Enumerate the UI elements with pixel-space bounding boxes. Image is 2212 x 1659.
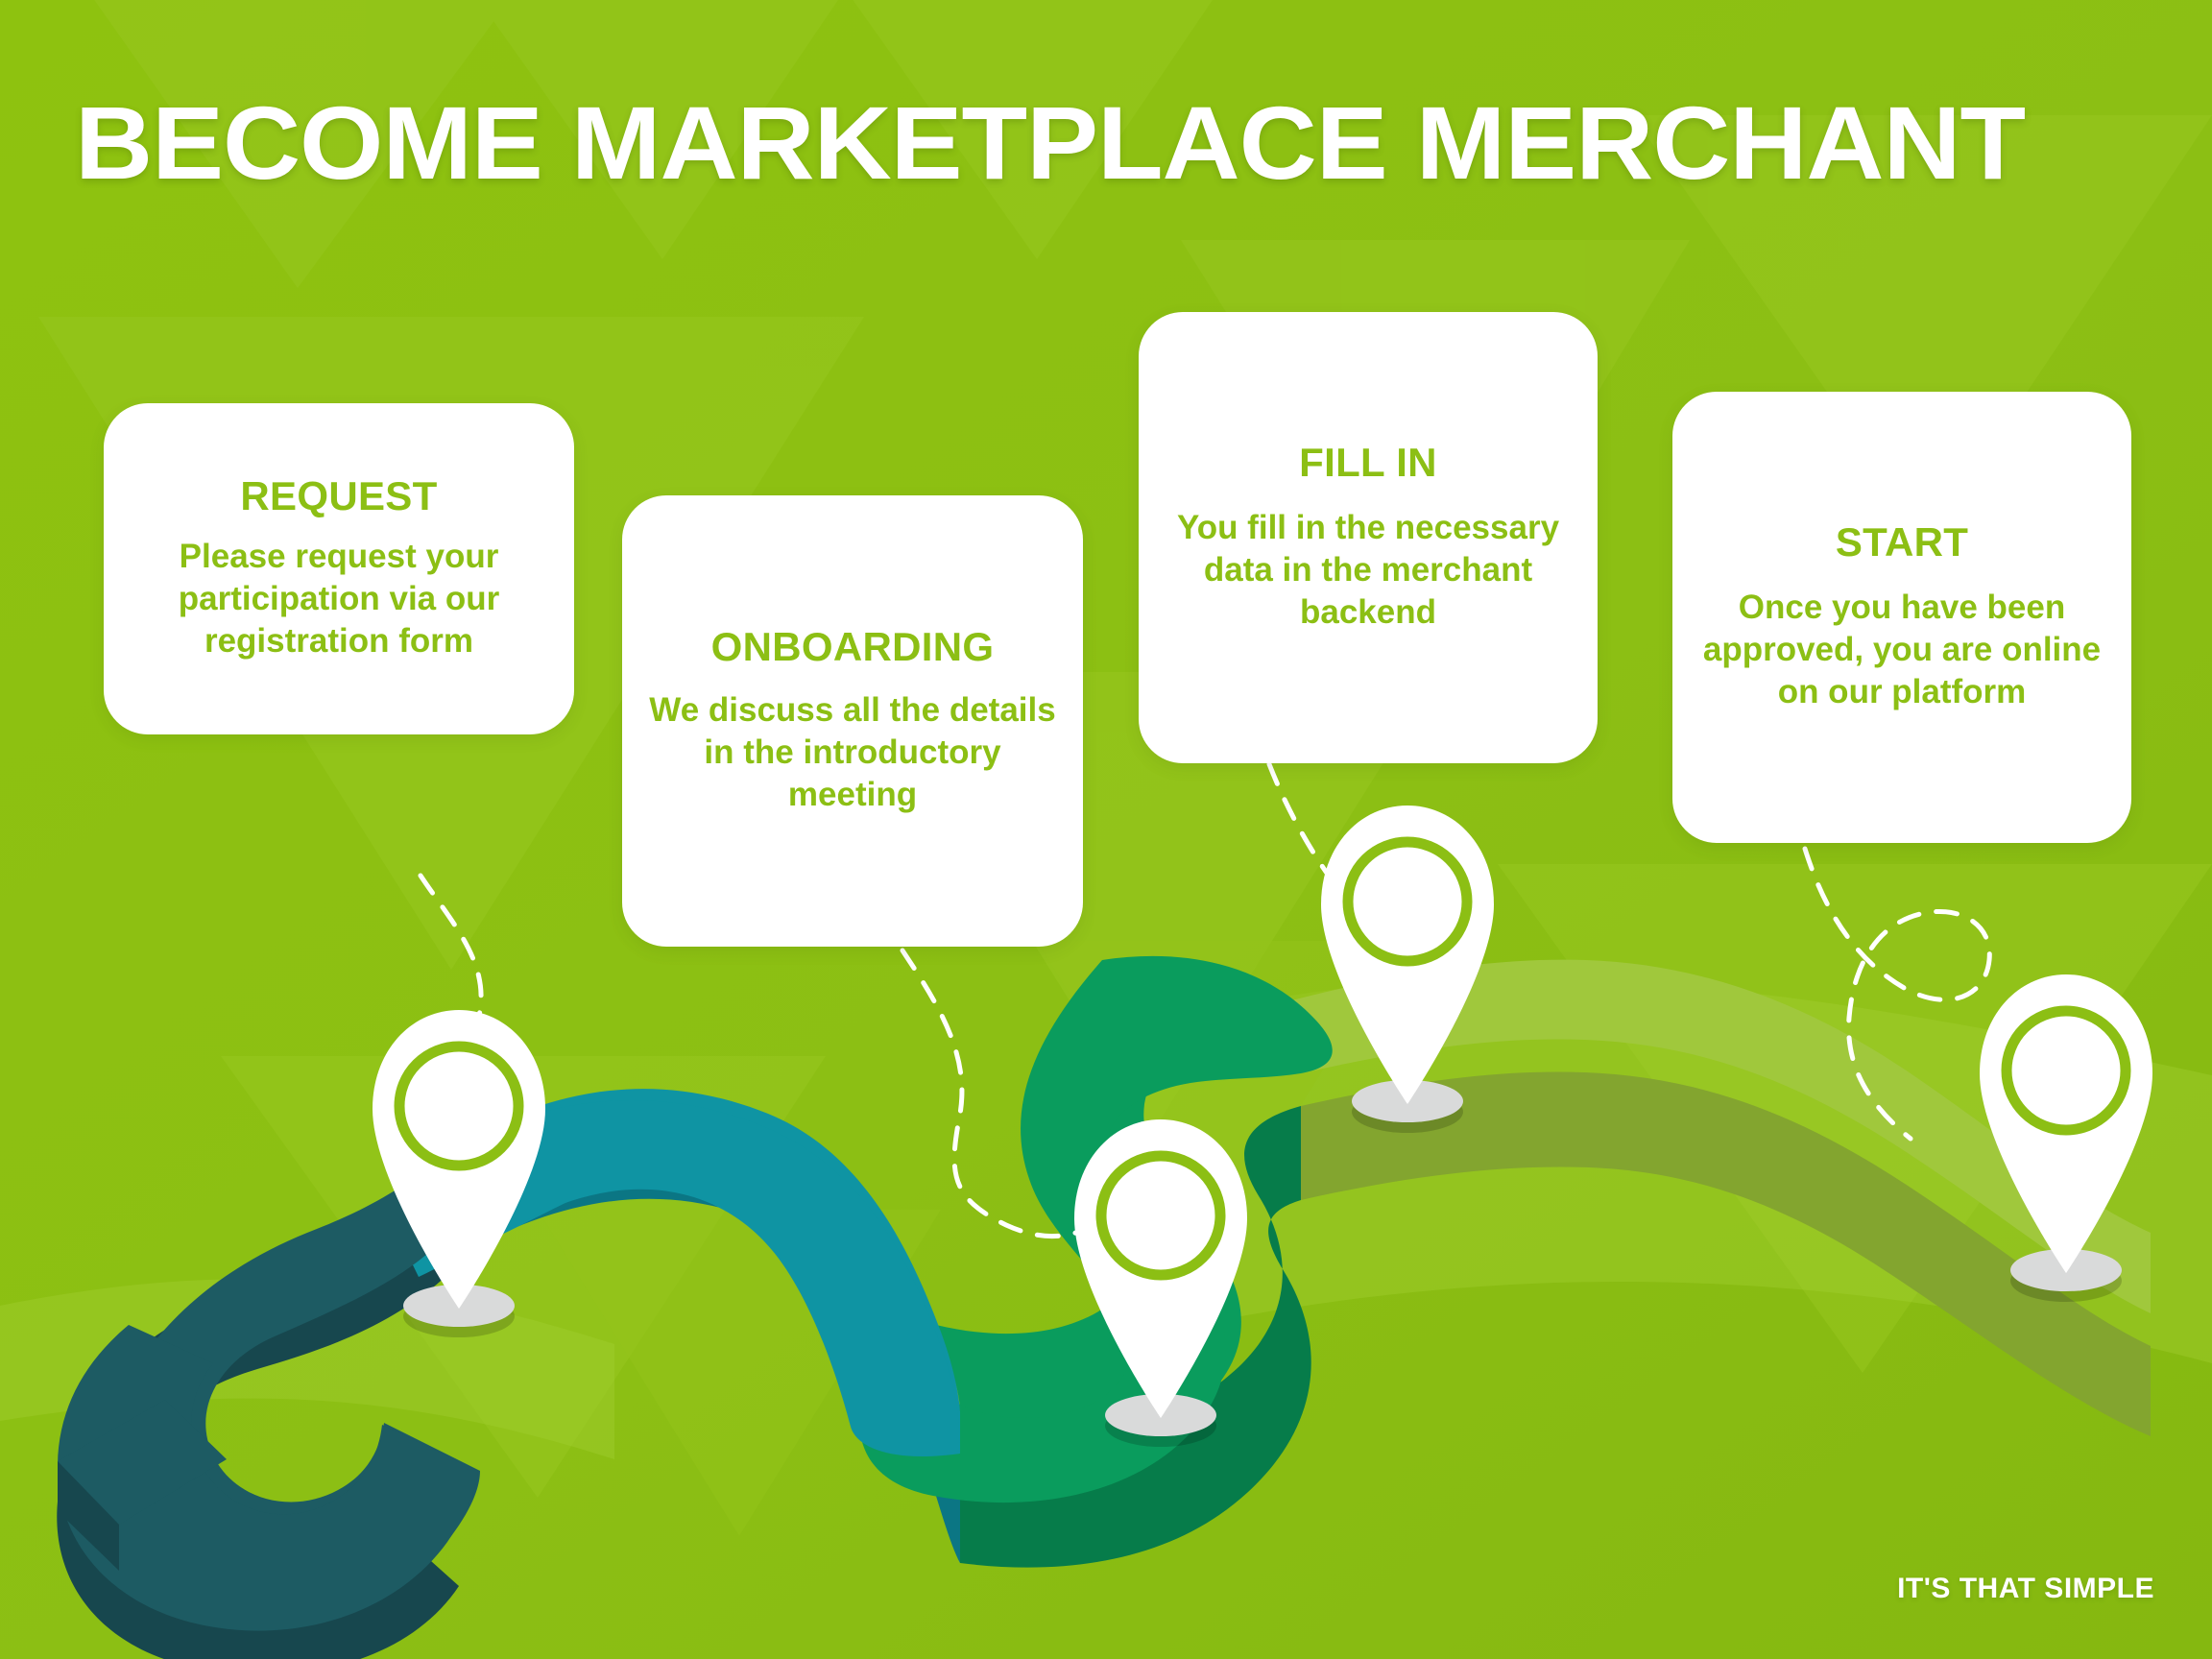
page-title: BECOME MARKETPLACE MERCHANT (75, 91, 2025, 195)
step-card-request[interactable]: REQUEST Please request your participatio… (104, 403, 574, 734)
step-card-fill-in[interactable]: FILL IN You fill in the necessary data i… (1139, 312, 1598, 763)
infographic-canvas: BECOME MARKETPLACE MERCHANT REQUEST Plea… (0, 0, 2212, 1659)
step-card-body: Once you have been approved, you are onl… (1697, 587, 2106, 713)
step-card-body: You fill in the necessary data in the me… (1164, 507, 1573, 634)
step-card-body: Please request your participation via ou… (129, 536, 549, 662)
footer-tagline: IT'S THAT SIMPLE (1897, 1573, 2154, 1605)
step-card-title: ONBOARDING (711, 626, 995, 669)
step-card-title: REQUEST (240, 475, 437, 518)
step-card-title: START (1836, 521, 1968, 565)
step-card-onboarding[interactable]: ONBOARDING We discuss all the details in… (622, 495, 1083, 947)
step-card-title: FILL IN (1299, 442, 1437, 485)
step-card-start[interactable]: START Once you have been approved, you a… (1672, 392, 2131, 843)
step-card-body: We discuss all the details in the introd… (647, 689, 1058, 816)
